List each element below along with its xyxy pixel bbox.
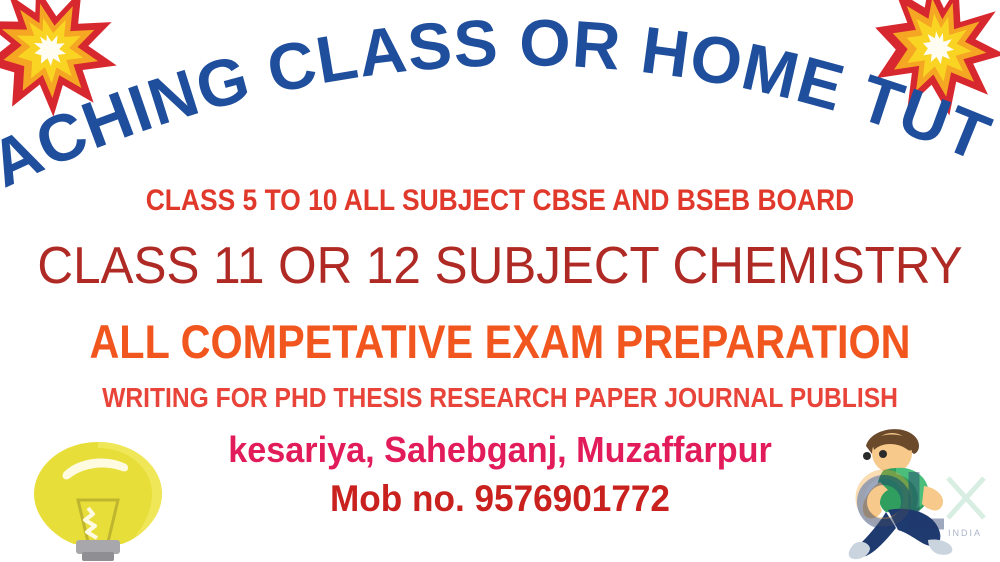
line-phd-writing: WRITING FOR PHD THESIS RESEARCH PAPER JO… (60, 384, 940, 412)
lightbulb-icon (22, 438, 174, 562)
line-competitive-exam: ALL COMPETATIVE EXAM PREPARATION (60, 318, 940, 365)
poster-headline: COACHING CLASS OR HOME TUTION (0, 0, 1000, 192)
line-class-5-to-10: CLASS 5 TO 10 ALL SUBJECT CBSE AND BSEB … (60, 186, 940, 216)
line-class-11-or-12: CLASS 11 OR 12 SUBJECT CHEMISTRY (25, 240, 975, 292)
olx-watermark-logo: INDIA (848, 462, 998, 548)
advertisement-poster: COACHING CLASS OR HOME TUTION CLASS 5 TO… (0, 0, 1000, 562)
headline-arch: COACHING CLASS OR HOME TUTION (0, 0, 1000, 192)
svg-text:INDIA: INDIA (948, 528, 982, 538)
